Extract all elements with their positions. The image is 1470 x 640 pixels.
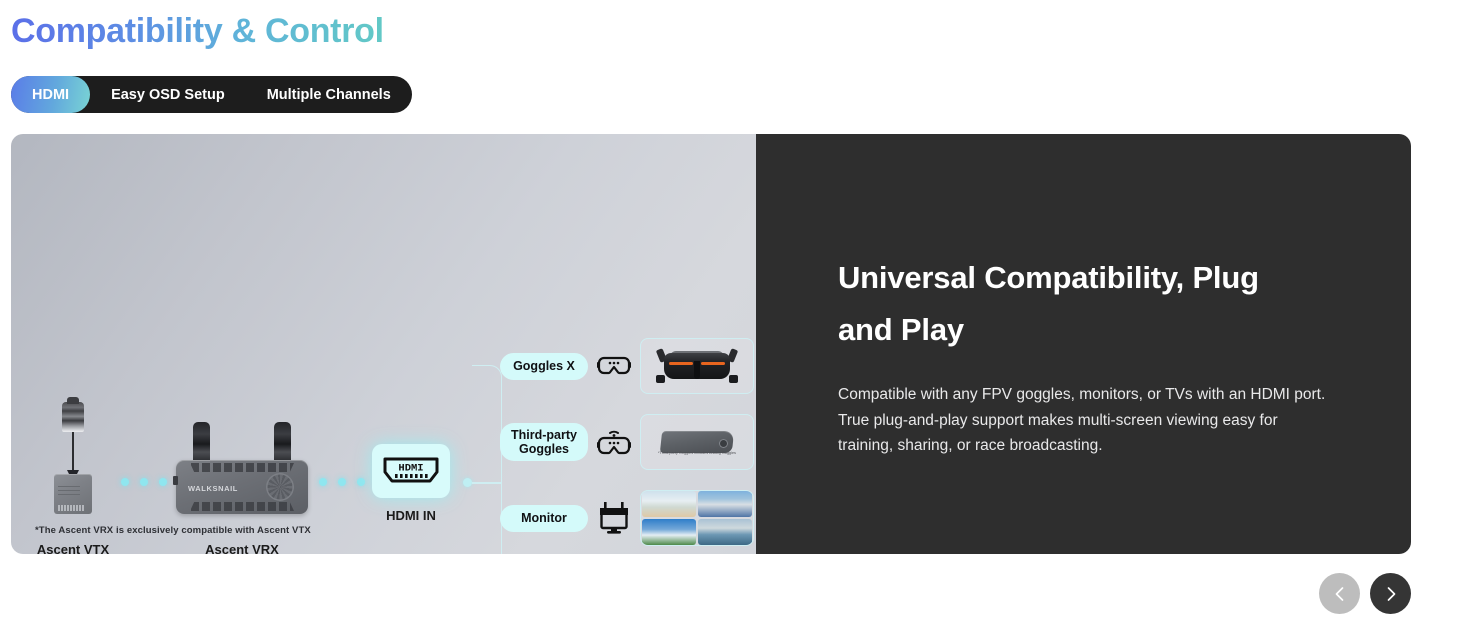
vrx-device-icon: WALKSNAIL xyxy=(176,422,308,514)
chevron-left-icon xyxy=(1332,586,1348,602)
carousel-next-button[interactable] xyxy=(1370,573,1411,614)
chip-monitor: Monitor xyxy=(500,505,588,532)
third-party-goggles-thumbnail: *Third-party Goggles includes Analog Gog… xyxy=(640,414,754,470)
feature-card: Ascent VTX WALKSNAIL Ascent VRX HDMI xyxy=(11,134,1411,554)
goggles-icon xyxy=(588,355,640,377)
monitor-antenna-icon xyxy=(588,501,640,535)
tab-hdmi[interactable]: HDMI xyxy=(11,76,90,113)
branch-bracket xyxy=(472,365,502,554)
chip-third-party-goggles: Third-party Goggles xyxy=(500,423,588,461)
page-title: Compatibility & Control xyxy=(11,12,384,51)
hdmi-port-icon: HDMI xyxy=(382,456,440,486)
goggles-antenna-icon xyxy=(588,427,640,457)
monitor-thumbnail xyxy=(640,490,754,546)
compatibility-diagram: Ascent VTX WALKSNAIL Ascent VRX HDMI xyxy=(11,134,756,554)
vtx-label: Ascent VTX xyxy=(22,542,124,554)
hdmi-in-node: HDMI xyxy=(372,444,450,498)
info-heading: Universal Compatibility, Plug and Play xyxy=(838,252,1318,356)
link-dots-vtx-vrx xyxy=(121,478,167,486)
hdmi-junction-dot xyxy=(463,478,472,487)
output-row-monitor: Monitor xyxy=(500,490,754,546)
chip-goggles-x: Goggles X xyxy=(500,353,588,380)
vtx-device-icon xyxy=(49,402,97,514)
svg-text:HDMI: HDMI xyxy=(398,463,423,475)
tab-bar: HDMI Easy OSD Setup Multiple Channels xyxy=(11,76,412,113)
carousel-controls xyxy=(1319,573,1411,614)
chevron-right-icon xyxy=(1383,586,1399,602)
output-row-third-party-goggles: Third-party Goggles *Third-party Goggles… xyxy=(500,414,754,470)
diagram-footnote: *The Ascent VRX is exclusively compatibl… xyxy=(35,525,311,536)
hdmi-in-label: HDMI IN xyxy=(372,508,450,523)
goggles-x-thumbnail xyxy=(640,338,754,394)
link-dots-vrx-hdmi xyxy=(319,478,365,486)
tab-multiple-channels[interactable]: Multiple Channels xyxy=(246,76,412,113)
tab-easy-osd-setup[interactable]: Easy OSD Setup xyxy=(90,76,246,113)
info-body: Compatible with any FPV goggles, monitor… xyxy=(838,382,1331,459)
thumbnail-note: *Third-party Goggles includes Analog Gog… xyxy=(657,451,737,455)
info-panel: Universal Compatibility, Plug and Play C… xyxy=(756,134,1411,554)
output-row-goggles-x: Goggles X xyxy=(500,338,754,394)
vrx-label: Ascent VRX xyxy=(191,542,293,554)
carousel-prev-button[interactable] xyxy=(1319,573,1360,614)
